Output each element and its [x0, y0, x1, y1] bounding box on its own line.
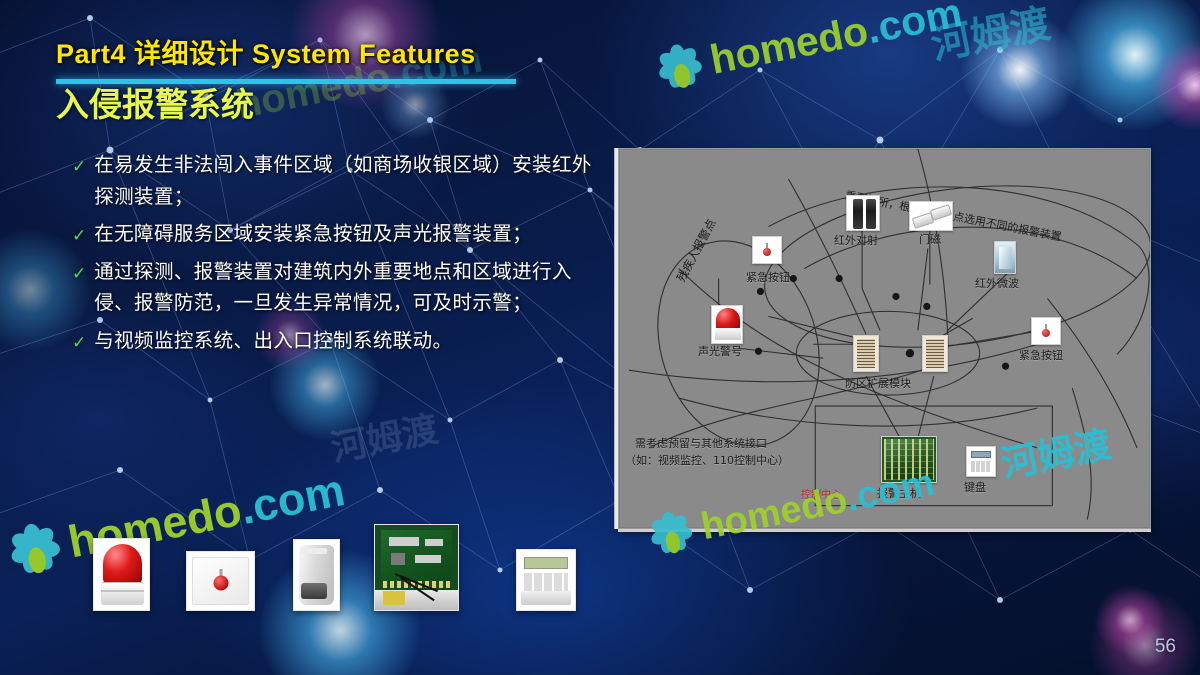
device-label-host: 报警主机: [877, 487, 921, 501]
page-subtitle: 入侵报警系统: [56, 86, 676, 124]
check-icon: ✓: [72, 334, 86, 351]
device-label-zone-module: 防区扩展模块: [845, 377, 911, 391]
title-underline: [56, 79, 516, 84]
device-label-keyboard: 键盘: [964, 481, 986, 495]
list-item: ✓ 通过探测、报警装置对建筑内外重要地点和区域进行入侵、报警防范，一旦发生异常情…: [72, 257, 602, 320]
device-label-ebutton-left: 紧急按钮: [746, 271, 790, 285]
siren-product-icon: [93, 538, 150, 611]
microwave-detector-icon: [994, 241, 1016, 274]
alarm-system-diagram: 残疾人报警点 重要场所，根据区域特点选用不同的报警装置 红外对射 门磁 红外微波…: [618, 148, 1151, 529]
device-label-ebutton-right: 紧急按钮: [1019, 349, 1063, 363]
emergency-button-product-icon: [186, 551, 255, 611]
list-item: ✓ 与视频监控系统、出入口控制系统联动。: [72, 326, 602, 358]
bullet-text: 在无障碍服务区域安装紧急按钮及声光报警装置；: [94, 219, 532, 251]
page-title: Part4 详细设计 System Features: [56, 32, 676, 71]
device-label-magnet: 门磁: [919, 233, 941, 247]
device-label-siren: 声光警号: [698, 345, 742, 359]
pir-detector-product-icon: [293, 539, 340, 611]
emergency-button-icon-left: [752, 236, 782, 264]
alarm-panel-board-product-icon: [374, 524, 459, 611]
bullet-text: 与视频监控系统、出入口控制系统联动。: [94, 326, 452, 358]
door-magnet-icon: [909, 201, 953, 231]
audible-visual-siren-icon: [711, 305, 743, 344]
list-item: ✓ 在无障碍服务区域安装紧急按钮及声光报警装置；: [72, 219, 602, 251]
control-center-label: 控制中心: [801, 490, 841, 503]
bullet-text: 通过探测、报警装置对建筑内外重要地点和区域进行入侵、报警防范，一旦发生异常情况，…: [94, 257, 602, 320]
device-label-microwave: 红外微波: [975, 277, 1019, 291]
bullet-text: 在易发生非法闯入事件区域（如商场收银区域）安装红外探测装置；: [94, 150, 602, 213]
alarm-keypad-product-icon: [516, 549, 576, 611]
bullet-list: ✓ 在易发生非法闯入事件区域（如商场收银区域）安装红外探测装置； ✓ 在无障碍服…: [72, 150, 602, 363]
title-block: Part4 详细设计 System Features 入侵报警系统: [56, 32, 676, 124]
zone-expansion-module-icon-2: [922, 335, 948, 372]
check-icon: ✓: [72, 158, 86, 175]
check-icon: ✓: [72, 265, 86, 282]
page-number: 56: [1155, 636, 1176, 658]
zone-expansion-module-icon-1: [853, 335, 879, 372]
alarm-keyboard-icon: [966, 446, 996, 477]
check-icon: ✓: [72, 227, 86, 244]
infrared-beam-icon: [846, 195, 880, 231]
interface-note-line-2: （如：视频监控、110控制中心）: [625, 454, 789, 468]
device-label-beam: 红外对射: [834, 234, 878, 248]
list-item: ✓ 在易发生非法闯入事件区域（如商场收银区域）安装红外探测装置；: [72, 150, 602, 213]
alarm-host-icon: [881, 436, 937, 483]
slide-canvas: homedo.com 河姆渡 河姆渡 homedo.com Part4 详细设计…: [0, 0, 1200, 675]
product-photo-strip: [93, 524, 576, 611]
interface-note-line-1: 需考虑预留与其他系统接口: [635, 437, 767, 451]
emergency-button-icon-right: [1031, 317, 1061, 345]
